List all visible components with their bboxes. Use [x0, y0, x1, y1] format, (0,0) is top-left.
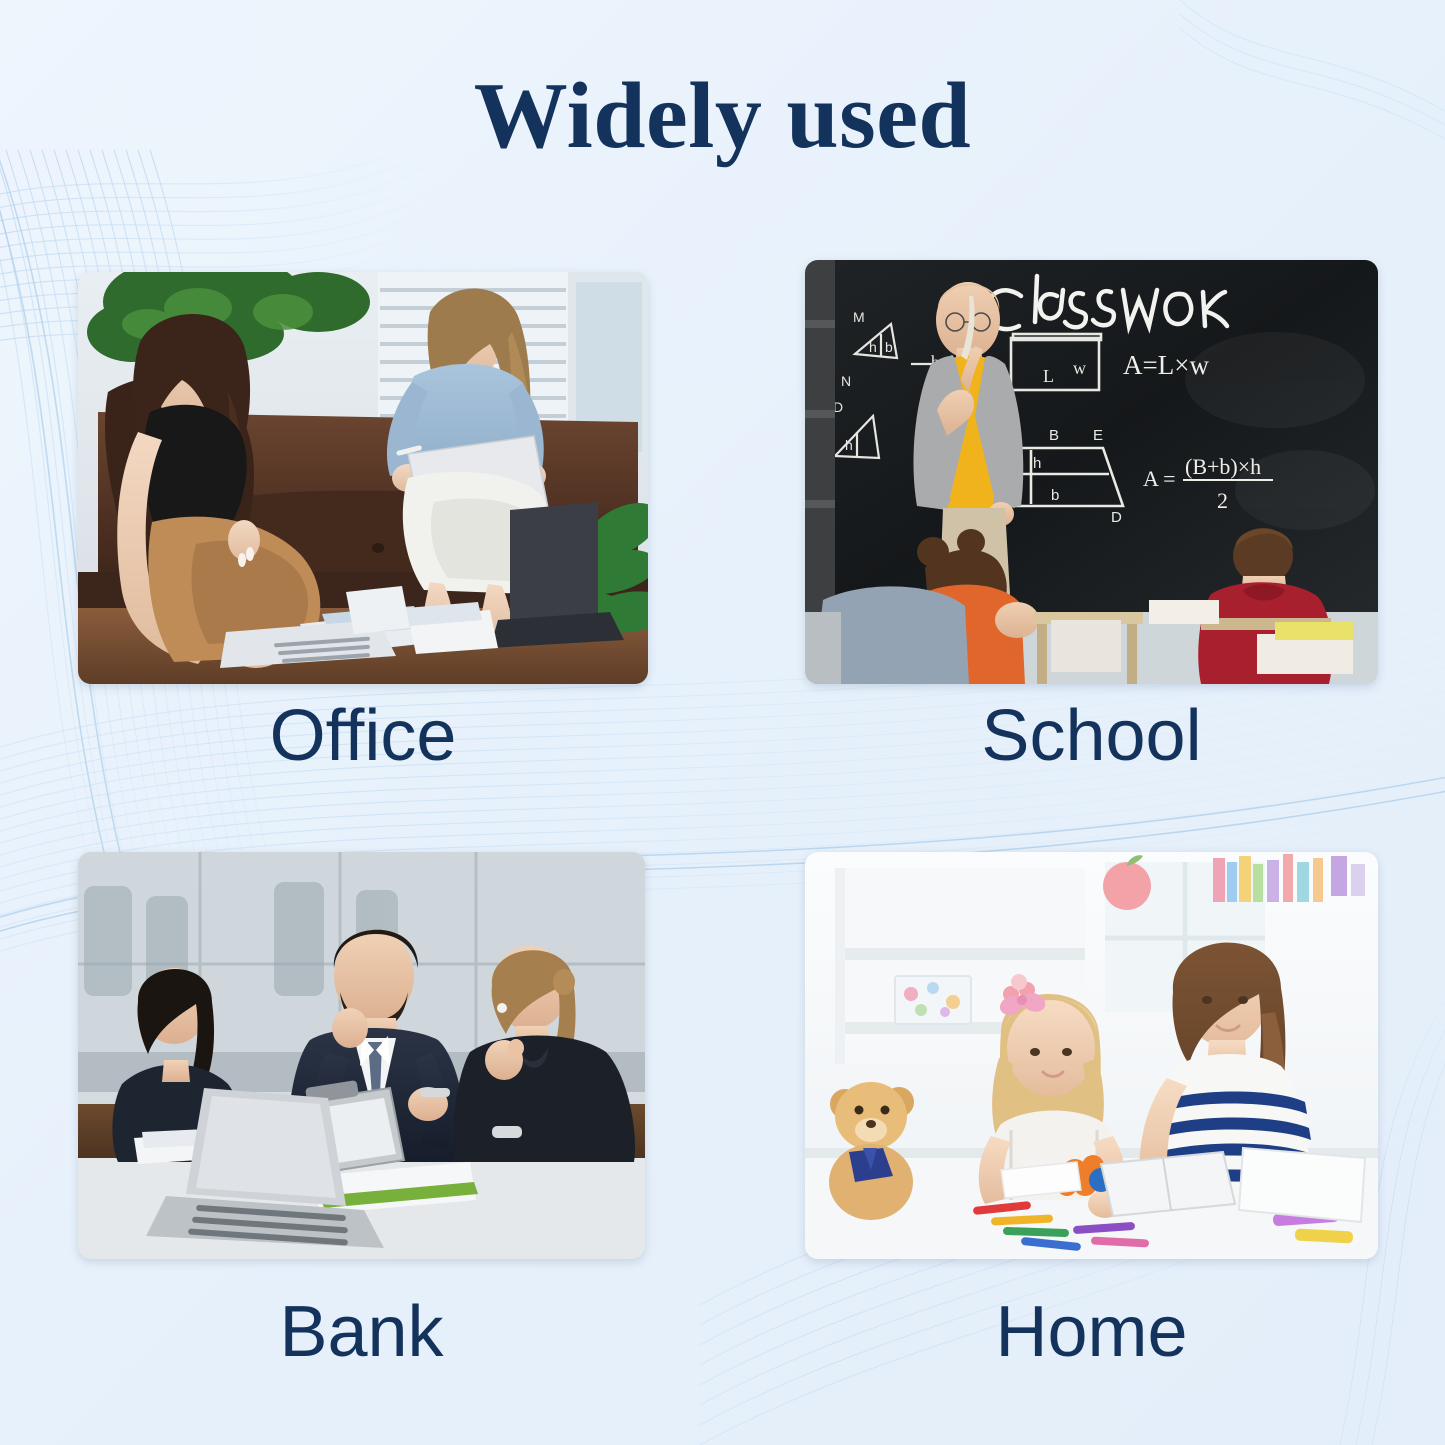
card-bank[interactable]	[78, 852, 645, 1259]
svg-text:A =: A =	[1143, 466, 1176, 491]
photo-bank	[78, 852, 645, 1259]
caption-office: Office	[78, 700, 648, 772]
card-home[interactable]	[805, 852, 1378, 1259]
svg-text:L: L	[1043, 366, 1054, 386]
photo-office	[78, 272, 648, 684]
card-school[interactable]: MN hb b×h2 Lw	[805, 260, 1378, 684]
svg-text:h: h	[1033, 455, 1041, 472]
caption-school: School	[805, 700, 1378, 772]
photo-home	[805, 852, 1378, 1259]
svg-text:M: M	[853, 309, 865, 325]
svg-text:h: h	[869, 339, 877, 355]
svg-text:N: N	[841, 373, 851, 389]
svg-text:D: D	[1111, 509, 1122, 526]
caption-home: Home	[805, 1296, 1378, 1368]
card-office[interactable]	[78, 272, 648, 684]
caption-bank: Bank	[78, 1296, 645, 1368]
page-title: Widely used	[0, 62, 1445, 170]
svg-text:h: h	[845, 437, 853, 453]
svg-text:E: E	[1093, 427, 1103, 444]
photo-school: MN hb b×h2 Lw	[805, 260, 1378, 684]
svg-text:b: b	[885, 339, 893, 355]
page-root: Widely used	[0, 0, 1445, 1445]
svg-text:b: b	[1051, 487, 1059, 504]
svg-text:B: B	[1049, 427, 1059, 444]
svg-text:2: 2	[1217, 488, 1228, 513]
svg-text:w: w	[1073, 358, 1086, 378]
